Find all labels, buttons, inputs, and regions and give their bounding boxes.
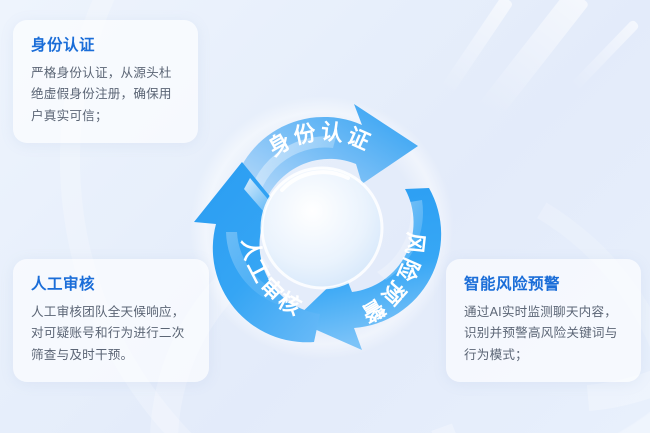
info-card-manual-body: 人工审核团队全天候响应，对可疑账号和行为进行二次筛查与及时干预。: [31, 302, 191, 367]
background-light-streak: [440, 0, 513, 95]
info-card-identity-body: 严格身份认证，从源头杜绝虚假身份注册，确保用户真实可信；: [31, 63, 180, 128]
info-card-identity-title: 身份认证: [31, 37, 180, 56]
info-card-risk-title: 智能风险预警: [464, 276, 623, 295]
infographic-canvas: 身份认证 风险预警 人工审核 身份认证 严格身份认证，从源头杜绝虚假身份注册，确…: [0, 0, 650, 433]
info-card-risk: 智能风险预警 通过AI实时监测聊天内容，识别并预警高风险关键词与行为模式；: [446, 259, 641, 382]
cycle-diagram: 身份认证 风险预警 人工审核: [186, 92, 458, 364]
info-card-risk-body: 通过AI实时监测聊天内容，识别并预警高风险关键词与行为模式；: [464, 302, 623, 367]
info-card-manual: 人工审核 人工审核团队全天候响应，对可疑账号和行为进行二次筛查与及时干预。: [13, 259, 209, 382]
background-light-streak: [477, 0, 590, 122]
info-card-identity: 身份认证 严格身份认证，从源头杜绝虚假身份注册，确保用户真实可信；: [13, 20, 198, 143]
background-light-streak: [570, 19, 640, 91]
info-card-manual-title: 人工审核: [31, 276, 191, 295]
